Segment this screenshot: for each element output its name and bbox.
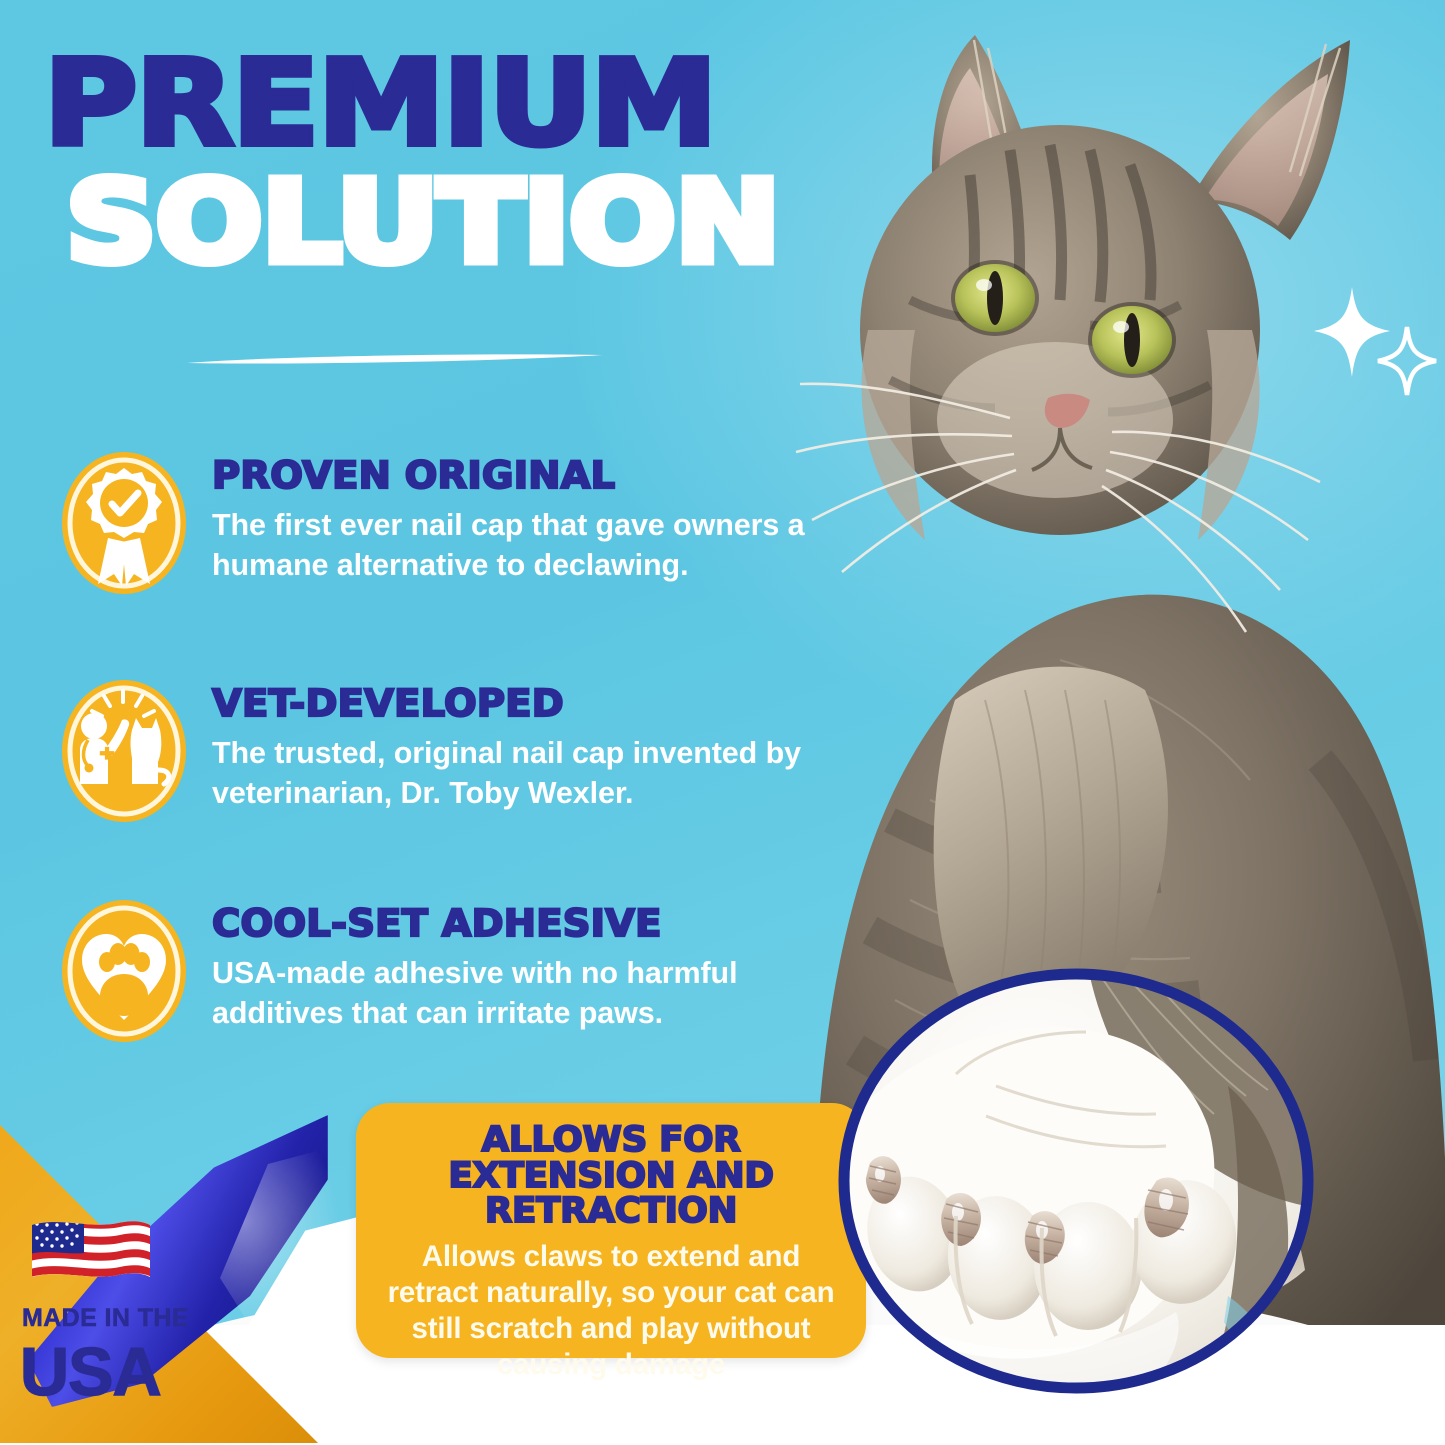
sparkles-group [1300,285,1445,410]
cat-eye-right [1088,302,1176,378]
product-infographic: PREMIUM SOLUTION PROVEN ORIGINAL The f [0,0,1445,1445]
callout-title: ALLOWS FOR EXTENSION AND RETRACTION [369,1123,852,1230]
feature-text-block: COOL-SET ADHESIVE USA-made adhesive with… [212,898,802,1033]
feature-body: The first ever nail cap that gave owners… [212,506,812,585]
made-in-usa-peel-corner: MADE IN THE USA [0,1125,340,1445]
feature-body: USA-made adhesive with no harmful additi… [212,954,802,1033]
sparkle-star-filled-icon [1314,287,1390,377]
veterinarian-high-five-cat-icon [60,678,188,824]
page-title-line2: SOLUTION [66,174,780,273]
feature-text-block: VET-DEVELOPED The trusted, original nail… [212,678,840,813]
feature-vet-developed: VET-DEVELOPED The trusted, original nail… [60,678,840,824]
sparkle-star-outline-icon [1378,327,1436,395]
feature-cool-set-adhesive: COOL-SET ADHESIVE USA-made adhesive with… [60,898,840,1044]
callout-body: Allows claws to extend and retract natur… [374,1239,848,1383]
feature-text-block: PROVEN ORIGINAL The first ever nail cap … [212,450,812,585]
feature-title: PROVEN ORIGINAL [212,454,836,497]
usa-flag-icon [30,1215,152,1295]
page-title-line1: PREMIUM [44,52,716,156]
feature-title: COOL-SET ADHESIVE [212,902,826,945]
award-ribbon-check-icon [60,450,188,596]
cat-eye-left [951,260,1039,336]
feature-title: VET-DEVELOPED [212,682,865,725]
made-in-usa-line1: MADE IN THE [22,1304,189,1333]
made-in-usa-line2: USA [20,1340,161,1405]
swoosh-divider-icon [185,352,605,366]
extension-retraction-callout: ALLOWS FOR EXTENSION AND RETRACTION Allo… [356,1103,866,1358]
heart-paw-print-icon [60,898,188,1044]
paw-closeup-callout [836,966,1316,1396]
feature-proven-original: PROVEN ORIGINAL The first ever nail cap … [60,450,820,596]
feature-body: The trusted, original nail cap invented … [212,734,840,813]
paw-photo [836,966,1316,1396]
